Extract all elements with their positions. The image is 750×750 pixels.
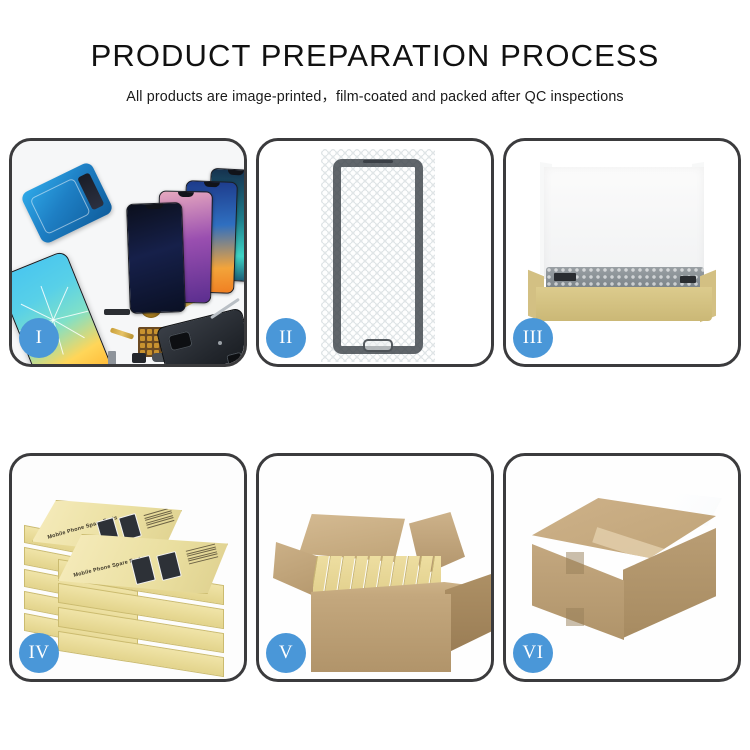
part-screw-set <box>218 341 222 345</box>
phone-front-black <box>126 202 186 314</box>
packed-screen-label-right <box>680 276 696 283</box>
back-cover-camera-cutout <box>168 331 193 352</box>
step-4-badge: IV <box>19 633 59 673</box>
back-cover-secondary-cutout <box>226 352 243 364</box>
page-header: PRODUCT PREPARATION PROCESS All products… <box>0 0 750 106</box>
foam-insert <box>544 167 704 279</box>
process-step-6[interactable]: VI <box>503 453 741 682</box>
process-step-grid: I II <box>9 138 741 682</box>
packed-screen-label-left <box>554 273 576 281</box>
page-subtitle: All products are image-printed，film-coat… <box>0 74 750 106</box>
bubble-wrap-sheet <box>321 149 435 362</box>
screen-crack-pattern <box>53 319 54 320</box>
process-step-3[interactable]: III <box>503 138 741 367</box>
page-title: PRODUCT PREPARATION PROCESS <box>0 0 750 74</box>
retail-box-spec-lines-front <box>186 544 218 565</box>
step-1-badge: I <box>19 318 59 358</box>
wrapped-screen-outline <box>333 159 423 354</box>
part-camera-module <box>132 353 146 363</box>
carton-flap-back <box>299 514 405 562</box>
process-step-1[interactable]: I <box>9 138 247 367</box>
process-step-4[interactable]: Mobile Phone Spare Parts Mobile Phone Sp… <box>9 453 247 682</box>
retail-box-thumb-front-2 <box>156 551 182 581</box>
step-2-badge: II <box>266 318 306 358</box>
part-sim-tray <box>108 351 116 364</box>
part-connector-strip <box>104 309 130 315</box>
kraft-box-front-wall <box>536 287 712 321</box>
process-step-5[interactable]: V <box>256 453 494 682</box>
carton-seam-upper <box>566 552 584 574</box>
step-6-badge: VI <box>513 633 553 673</box>
carton-seam-lower <box>566 608 584 626</box>
carton-front-panel <box>311 594 451 672</box>
home-button-outline <box>363 339 393 352</box>
step-5-badge: V <box>266 633 306 673</box>
process-step-2[interactable]: II <box>256 138 494 367</box>
step-3-badge: III <box>513 318 553 358</box>
retail-box-spec-lines-back <box>144 507 175 528</box>
retail-box-thumb-front-1 <box>130 555 156 585</box>
